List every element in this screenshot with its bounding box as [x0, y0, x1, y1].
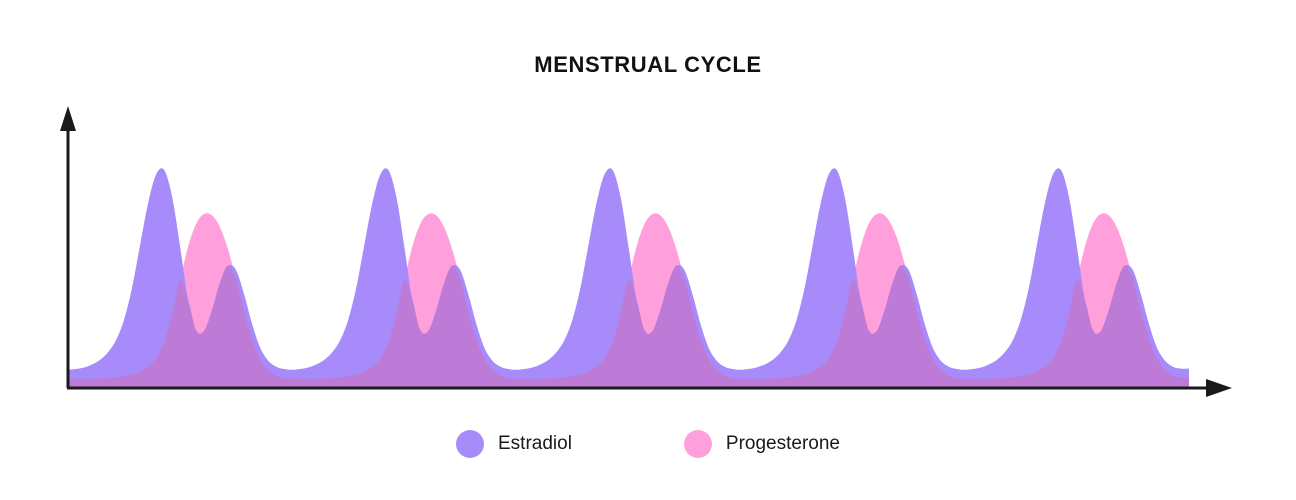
legend-label-progesterone: Progesterone: [726, 433, 840, 455]
arrow-right-icon: [1206, 379, 1232, 397]
chart-legend: Estradiol Progesterone: [0, 430, 1296, 458]
menstrual-cycle-infographic: MENSTRUAL CYCLE Estradiol Progesterone: [0, 0, 1296, 500]
legend-label-estradiol: Estradiol: [498, 433, 572, 455]
circle-swatch-icon: [456, 430, 484, 458]
page-title: MENSTRUAL CYCLE: [0, 52, 1296, 78]
arrow-up-icon: [60, 106, 76, 131]
legend-item-estradiol[interactable]: Estradiol: [456, 430, 572, 458]
legend-item-progesterone[interactable]: Progesterone: [684, 430, 840, 458]
circle-swatch-icon: [684, 430, 712, 458]
